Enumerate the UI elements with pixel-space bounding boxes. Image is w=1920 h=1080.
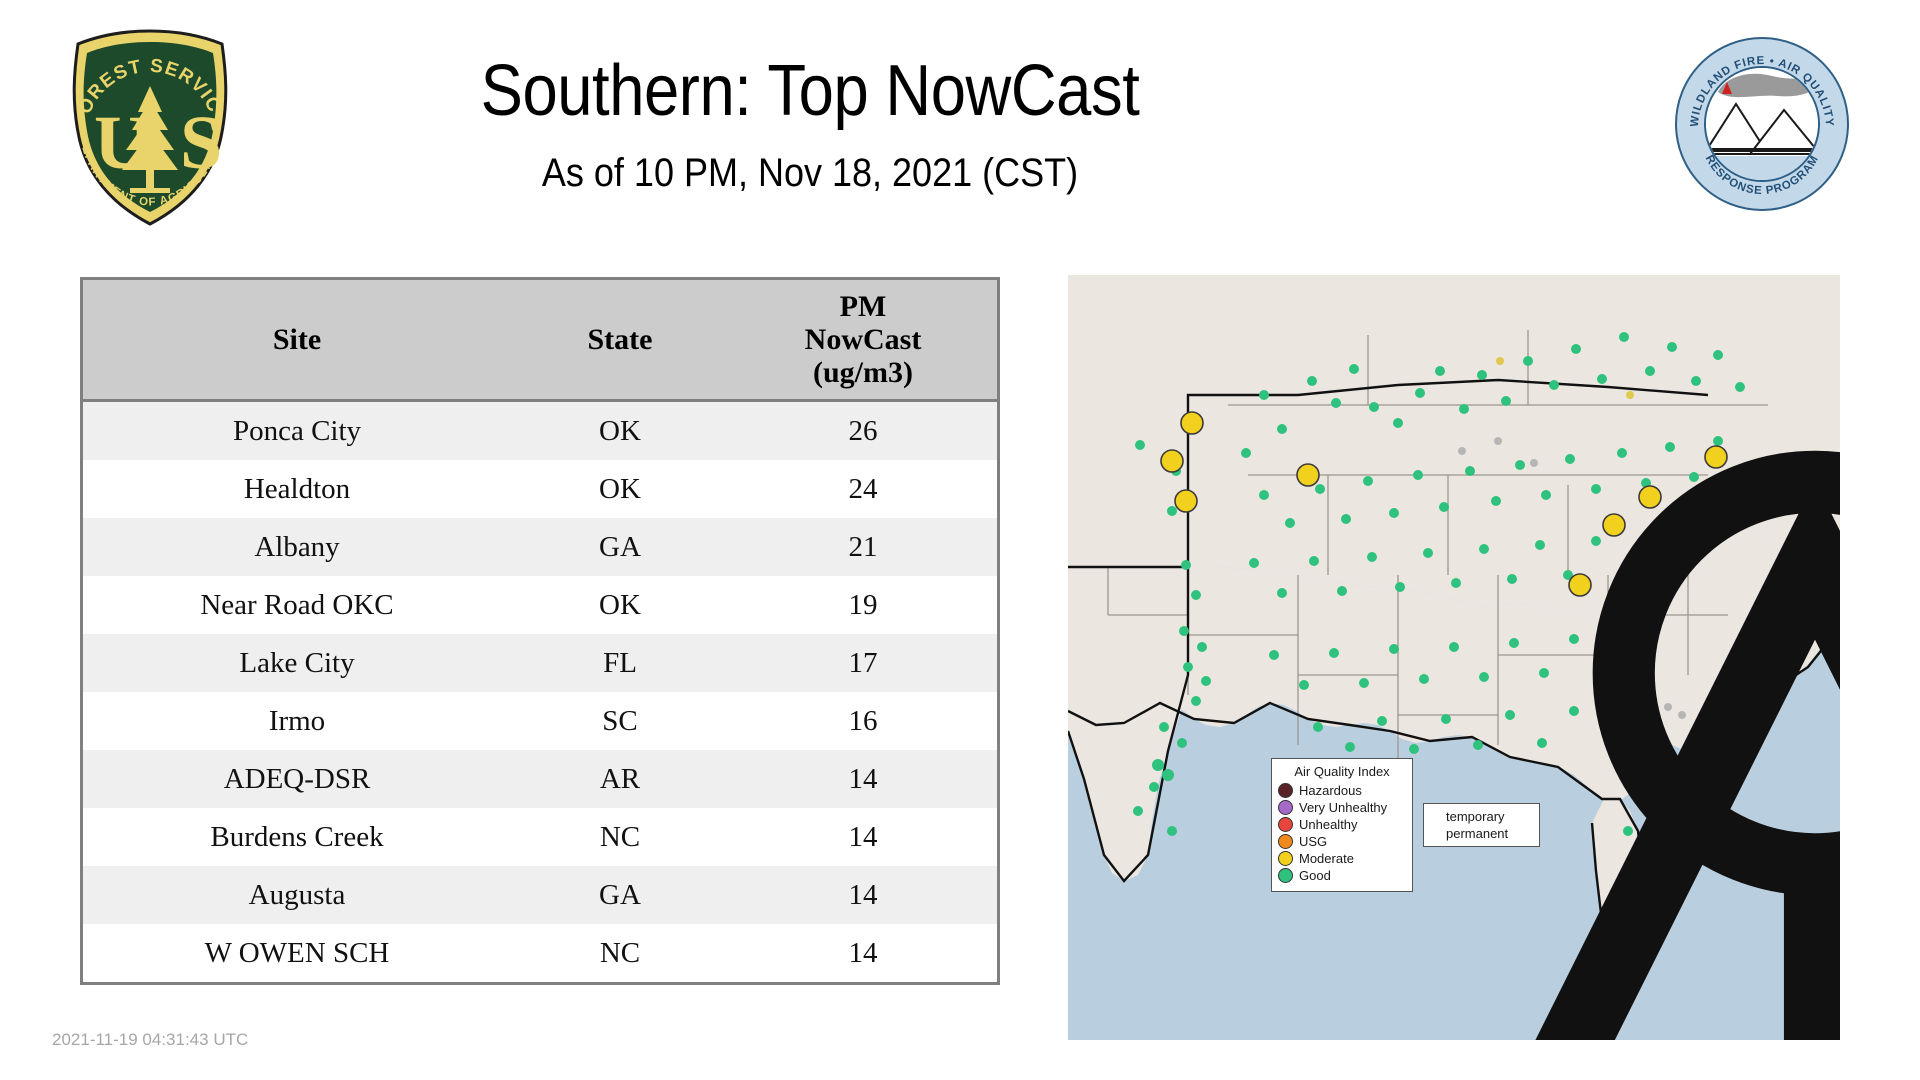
aqi-legend: Air Quality Index HazardousVery Unhealth… [1271, 758, 1413, 892]
aqi-legend-label: Unhealthy [1299, 817, 1358, 832]
svg-text:S: S [180, 101, 222, 185]
page-title: Southern: Top NowCast [361, 52, 1259, 130]
cell-state: GA [511, 866, 729, 924]
cell-site: ADEQ-DSR [83, 750, 511, 808]
nowcast-table: Site State PM NowCast (ug/m3) Ponca City… [83, 280, 997, 982]
cell-site: Ponca City [83, 400, 511, 460]
unit-label: (ug/m3) [813, 356, 913, 389]
table-row: W OWEN SCHNC14 [83, 924, 997, 982]
aqi-legend-row: Very Unhealthy [1278, 799, 1406, 816]
nowcast-table-container: Site State PM NowCast (ug/m3) Ponca City… [80, 277, 1000, 985]
cell-value: 21 [729, 518, 997, 576]
cell-state: SC [511, 692, 729, 750]
cell-site: Near Road OKC [83, 576, 511, 634]
cell-site: Healdton [83, 460, 511, 518]
aqi-legend-label: USG [1299, 834, 1327, 849]
cell-value: 17 [729, 634, 997, 692]
marker-type-legend: temporary permanent [1423, 803, 1540, 847]
legend-label-permanent: permanent [1446, 826, 1508, 841]
cell-site: Lake City [83, 634, 511, 692]
cell-value: 14 [729, 866, 997, 924]
table-head: Site State PM NowCast (ug/m3) [83, 280, 997, 400]
cell-state: NC [511, 808, 729, 866]
table-row: Lake CityFL17 [83, 634, 997, 692]
column-header-pm-nowcast[interactable]: PM NowCast (ug/m3) [729, 280, 997, 400]
aqi-legend-label: Very Unhealthy [1299, 800, 1387, 815]
page-subtitle: As of 10 PM, Nov 18, 2021 (CST) [351, 150, 1269, 196]
cell-state: AR [511, 750, 729, 808]
cell-state: OK [511, 460, 729, 518]
nowcast-label: NowCast [805, 323, 922, 356]
table-header-row: Site State PM NowCast (ug/m3) [83, 280, 997, 400]
generated-timestamp: 2021-11-19 04:31:43 UTC [52, 1030, 248, 1050]
aqi-legend-row: Unhealthy [1278, 816, 1406, 833]
cell-value: 14 [729, 750, 997, 808]
aqi-legend-row: USG [1278, 833, 1406, 850]
triangle-icon [1429, 451, 1446, 1040]
cell-site: W OWEN SCH [83, 924, 511, 982]
table-row: ADEQ-DSRAR14 [83, 750, 997, 808]
table-row: AugustaGA14 [83, 866, 997, 924]
wfaqrp-program-badge: WILDLAND FIRE • AIR QUALITY RESPONSE PRO… [1674, 36, 1850, 212]
table-row: HealdtonOK24 [83, 460, 997, 518]
forest-service-logo: FOREST SERVICE DEPARTMENT OF AGRICULTURE… [52, 28, 248, 228]
cell-value: 26 [729, 400, 997, 460]
column-header-site[interactable]: Site [83, 280, 511, 400]
aqi-legend-label: Hazardous [1299, 783, 1362, 798]
cell-site: Augusta [83, 866, 511, 924]
cell-value: 16 [729, 692, 997, 750]
table-body: Ponca CityOK26HealdtonOK24AlbanyGA21Near… [83, 400, 997, 982]
cell-value: 14 [729, 924, 997, 982]
air-quality-map[interactable]: Air Quality Index HazardousVery Unhealth… [1068, 275, 1840, 1040]
column-header-state[interactable]: State [511, 280, 729, 400]
cell-state: NC [511, 924, 729, 982]
aqi-legend-row: Hazardous [1278, 782, 1406, 799]
cell-state: GA [511, 518, 729, 576]
cell-site: Albany [83, 518, 511, 576]
table-row: IrmoSC16 [83, 692, 997, 750]
aqi-legend-row: Good [1278, 867, 1406, 884]
table-row: Near Road OKCOK19 [83, 576, 997, 634]
cell-value: 24 [729, 460, 997, 518]
cell-site: Irmo [83, 692, 511, 750]
cell-state: FL [511, 634, 729, 692]
aqi-legend-row: Moderate [1278, 850, 1406, 867]
aqi-swatch-icon [1278, 834, 1293, 849]
aqi-swatch-icon [1278, 800, 1293, 815]
cell-value: 14 [729, 808, 997, 866]
pm-label: PM [840, 290, 887, 323]
legend-row-permanent: permanent [1429, 825, 1534, 842]
aqi-legend-label: Moderate [1299, 851, 1354, 866]
aqi-legend-title: Air Quality Index [1278, 764, 1406, 779]
table-row: Ponca CityOK26 [83, 400, 997, 460]
aqi-swatch-icon [1278, 783, 1293, 798]
table-row: AlbanyGA21 [83, 518, 997, 576]
cell-state: OK [511, 576, 729, 634]
table-row: Burdens CreekNC14 [83, 808, 997, 866]
cell-value: 19 [729, 576, 997, 634]
cell-site: Burdens Creek [83, 808, 511, 866]
aqi-swatch-icon [1278, 851, 1293, 866]
aqi-swatch-icon [1278, 868, 1293, 883]
aqi-legend-label: Good [1299, 868, 1331, 883]
aqi-swatch-icon [1278, 817, 1293, 832]
cell-state: OK [511, 400, 729, 460]
